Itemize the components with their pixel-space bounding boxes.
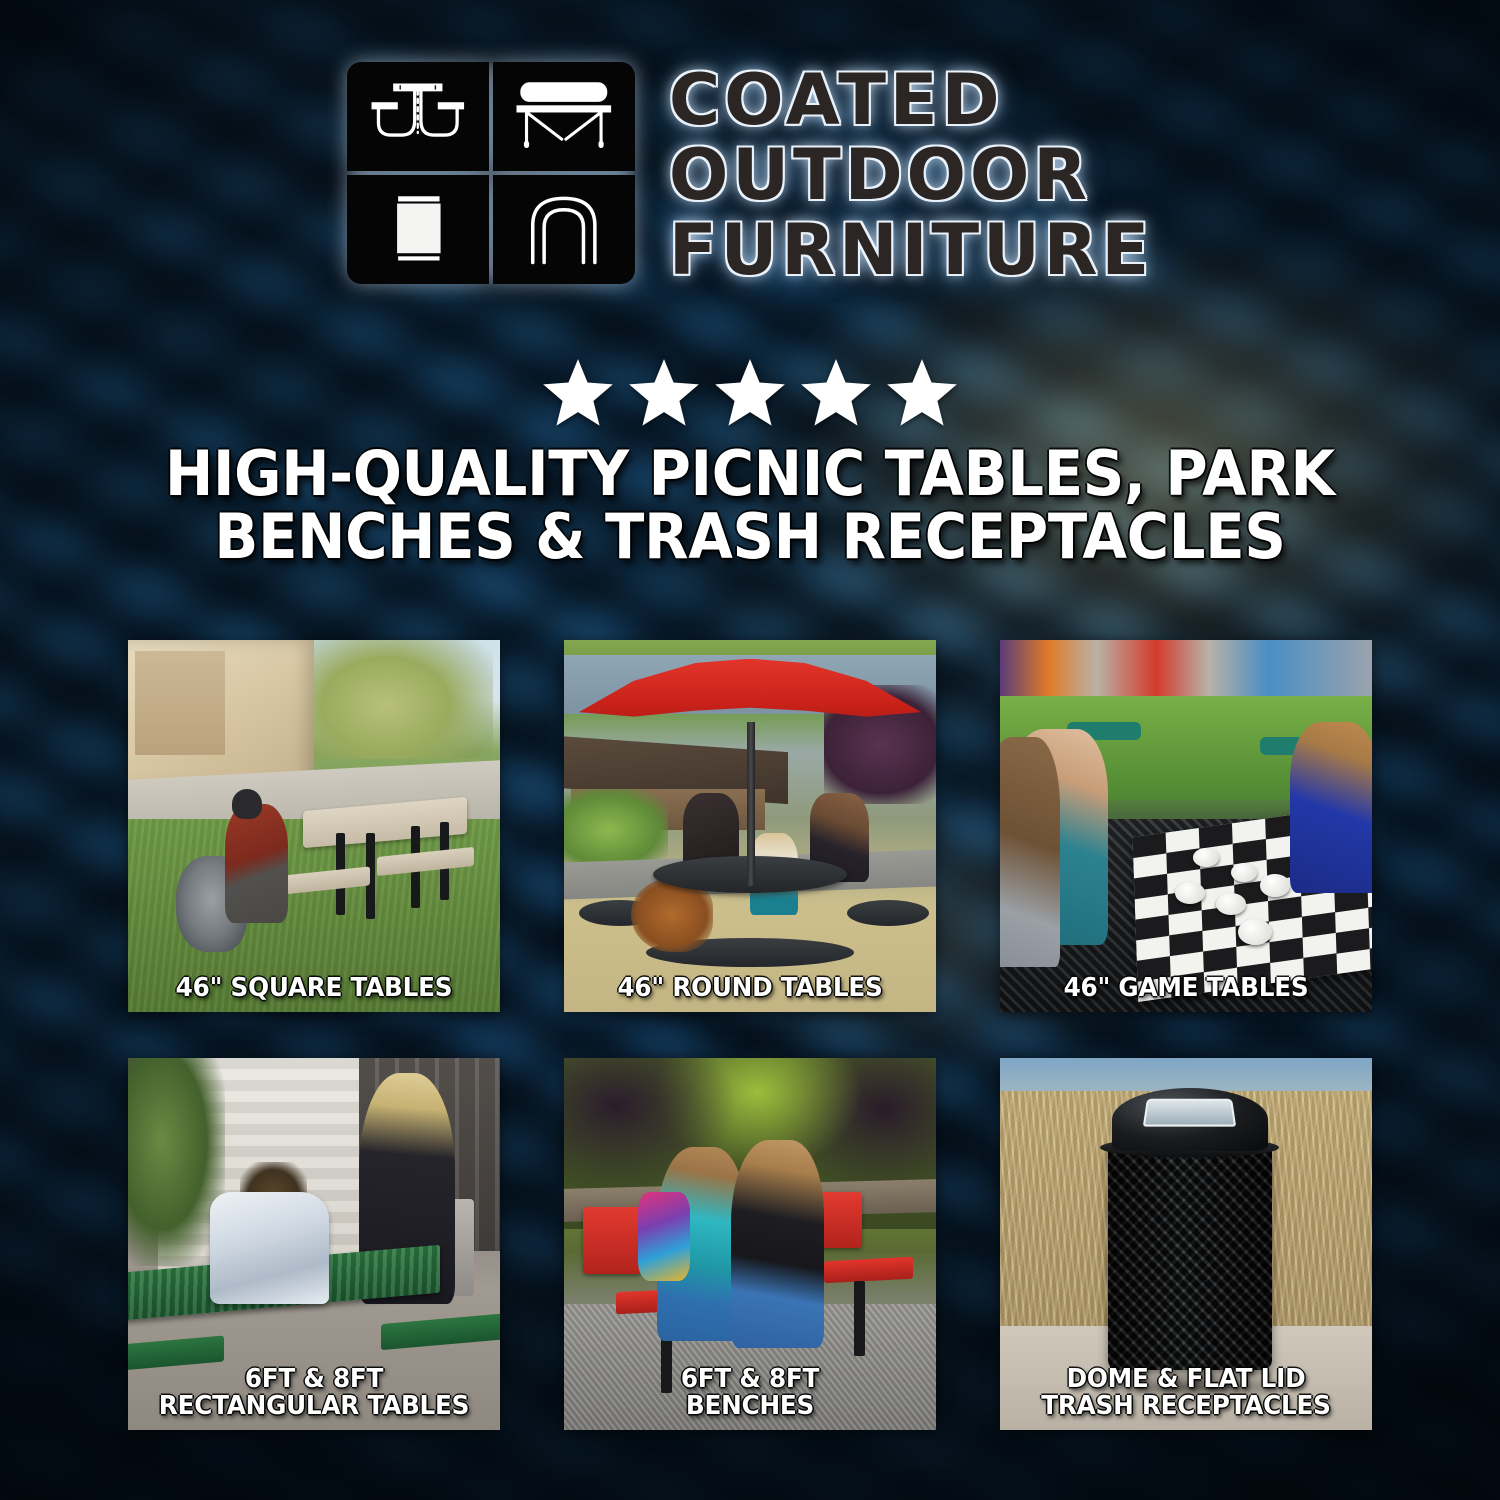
brand-logo-mark: [347, 62, 635, 284]
caption-line-1: 46" SQUARE TABLES: [143, 975, 485, 1002]
product-caption-round-tables: 46" ROUND TABLES: [579, 975, 921, 1002]
headline: HIGH-QUALITY PICNIC TABLES, PARK BENCHES…: [108, 442, 1391, 568]
product-tile-round-tables[interactable]: 46" ROUND TABLES: [564, 640, 936, 1012]
park-bench-icon: [493, 62, 635, 171]
product-photo-game-tables: [1000, 640, 1372, 1012]
product-caption-rectangular-tables: 6FT & 8FT RECTANGULAR TABLES: [143, 1366, 485, 1420]
headline-line-1: HIGH-QUALITY PICNIC TABLES, PARK: [108, 442, 1391, 505]
product-caption-trash-receptacles: DOME & FLAT LID TRASH RECEPTACLES: [1015, 1366, 1357, 1420]
product-tile-grid: 46" SQUARE TABLES 46" ROUND TABLES: [128, 640, 1372, 1430]
product-photo-square-tables: [128, 640, 500, 1012]
product-photo-round-tables: [564, 640, 936, 1012]
picnic-table-icon: [347, 62, 489, 171]
trash-receptacle-icon: [347, 175, 489, 284]
star-icon-5: [884, 356, 960, 430]
caption-line-1: 46" GAME TABLES: [1015, 975, 1357, 1002]
caption-line-2: BENCHES: [579, 1393, 921, 1420]
star-rating: [0, 356, 1500, 430]
product-caption-game-tables: 46" GAME TABLES: [1015, 975, 1357, 1002]
caption-line-1: 6FT & 8FT: [143, 1366, 485, 1393]
star-icon-3: [712, 356, 788, 430]
star-icon-2: [626, 356, 702, 430]
brand-line-outdoor: OUTDOOR: [669, 143, 1153, 209]
star-icon-1: [540, 356, 616, 430]
caption-line-2: TRASH RECEPTACLES: [1015, 1393, 1357, 1420]
brand-header: COATED OUTDOOR FURNITURE: [0, 62, 1500, 284]
brand-wordmark: COATED OUTDOOR FURNITURE: [669, 62, 1153, 283]
headline-line-2: BENCHES & TRASH RECEPTACLES: [108, 505, 1391, 568]
caption-line-2: RECTANGULAR TABLES: [143, 1393, 485, 1420]
caption-line-1: 6FT & 8FT: [579, 1366, 921, 1393]
caption-line-1: DOME & FLAT LID: [1015, 1366, 1357, 1393]
product-caption-square-tables: 46" SQUARE TABLES: [143, 975, 485, 1002]
product-tile-square-tables[interactable]: 46" SQUARE TABLES: [128, 640, 500, 1012]
product-tile-trash-receptacles[interactable]: DOME & FLAT LID TRASH RECEPTACLES: [1000, 1058, 1372, 1430]
bike-rack-icon: [493, 175, 635, 284]
caption-line-1: 46" ROUND TABLES: [579, 975, 921, 1002]
poster-content: COATED OUTDOOR FURNITURE HIGH-QUALITY PI…: [0, 0, 1500, 1500]
product-caption-benches: 6FT & 8FT BENCHES: [579, 1366, 921, 1420]
brand-line-furniture: FURNITURE: [669, 218, 1153, 284]
product-tile-rectangular-tables[interactable]: 6FT & 8FT RECTANGULAR TABLES: [128, 1058, 500, 1430]
product-tile-benches[interactable]: 6FT & 8FT BENCHES: [564, 1058, 936, 1430]
brand-line-coated: COATED: [669, 68, 1153, 134]
star-icon-4: [798, 356, 874, 430]
product-tile-game-tables[interactable]: 46" GAME TABLES: [1000, 640, 1372, 1012]
